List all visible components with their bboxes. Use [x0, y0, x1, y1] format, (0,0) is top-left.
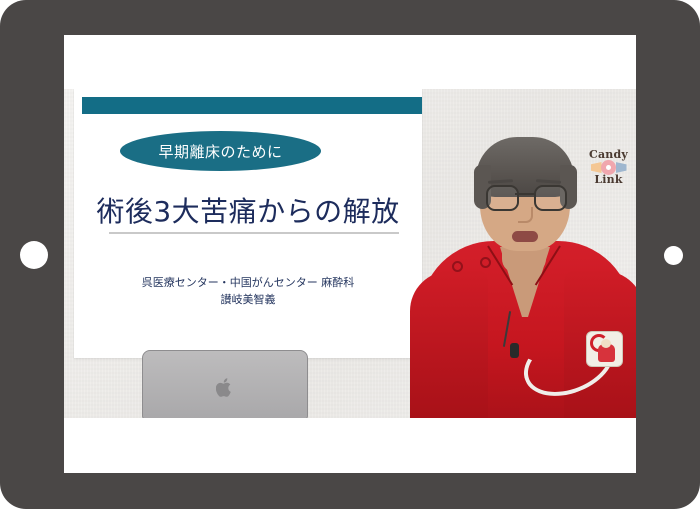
brand-logo-line2: Link: [585, 174, 632, 185]
presentation-slide[interactable]: 早期離床のために 術後3大苦痛からの解放 呉医療センター・中国がんセンター 麻酔…: [74, 89, 422, 358]
slide-title: 術後3大苦痛からの解放: [74, 190, 422, 230]
tablet-device-frame: 早期離床のために 術後3大苦痛からの解放 呉医療センター・中国がんセンター 麻酔…: [0, 0, 700, 509]
slide-affiliation: 呉医療センター・中国がんセンター 麻酔科 讃岐美智義: [74, 274, 422, 308]
jersey-sleeve-patch: [586, 331, 623, 367]
slide-banner-text: 早期離床のために: [158, 141, 282, 162]
slide-affiliation-presenter: 讃岐美智義: [74, 291, 422, 308]
candy-wrapper-left: [591, 162, 602, 173]
brand-logo-line1: Candy: [585, 149, 632, 160]
front-camera-icon: [664, 246, 683, 265]
candy-icon: [589, 160, 629, 174]
webinar-video-stage[interactable]: 早期離床のために 術後3大苦痛からの解放 呉医療センター・中国がんセンター 麻酔…: [64, 89, 636, 418]
presenter-snap-button: [480, 257, 491, 268]
macbook-laptop: [142, 350, 308, 418]
patch-mascot-icon: [598, 344, 615, 362]
slide-affiliation-organization: 呉医療センター・中国がんセンター 麻酔科: [74, 274, 422, 291]
tablet-screen: 早期離床のために 術後3大苦痛からの解放 呉医療センター・中国がんセンター 麻酔…: [64, 35, 636, 473]
slide-banner-ellipse: 早期離床のために: [120, 131, 321, 171]
slide-accent-bar: [82, 97, 422, 114]
presenter-shoulder-left: [410, 271, 488, 418]
eyeglasses-lens-left: [486, 185, 519, 211]
candy-wrapper-right: [616, 162, 627, 173]
candy-hole: [606, 165, 611, 170]
eyeglasses-bridge: [515, 193, 534, 195]
slide-divider: [109, 232, 399, 234]
home-button[interactable]: [20, 241, 48, 269]
presenter-mouth: [512, 231, 538, 242]
presenter-snap-button: [452, 261, 463, 272]
apple-logo-icon: [216, 377, 234, 398]
eyeglasses-lens-right: [534, 185, 567, 211]
candy-link-logo: Candy Link: [585, 149, 632, 188]
presenter-nose: [518, 207, 533, 223]
lapel-mic-icon: [510, 343, 519, 358]
